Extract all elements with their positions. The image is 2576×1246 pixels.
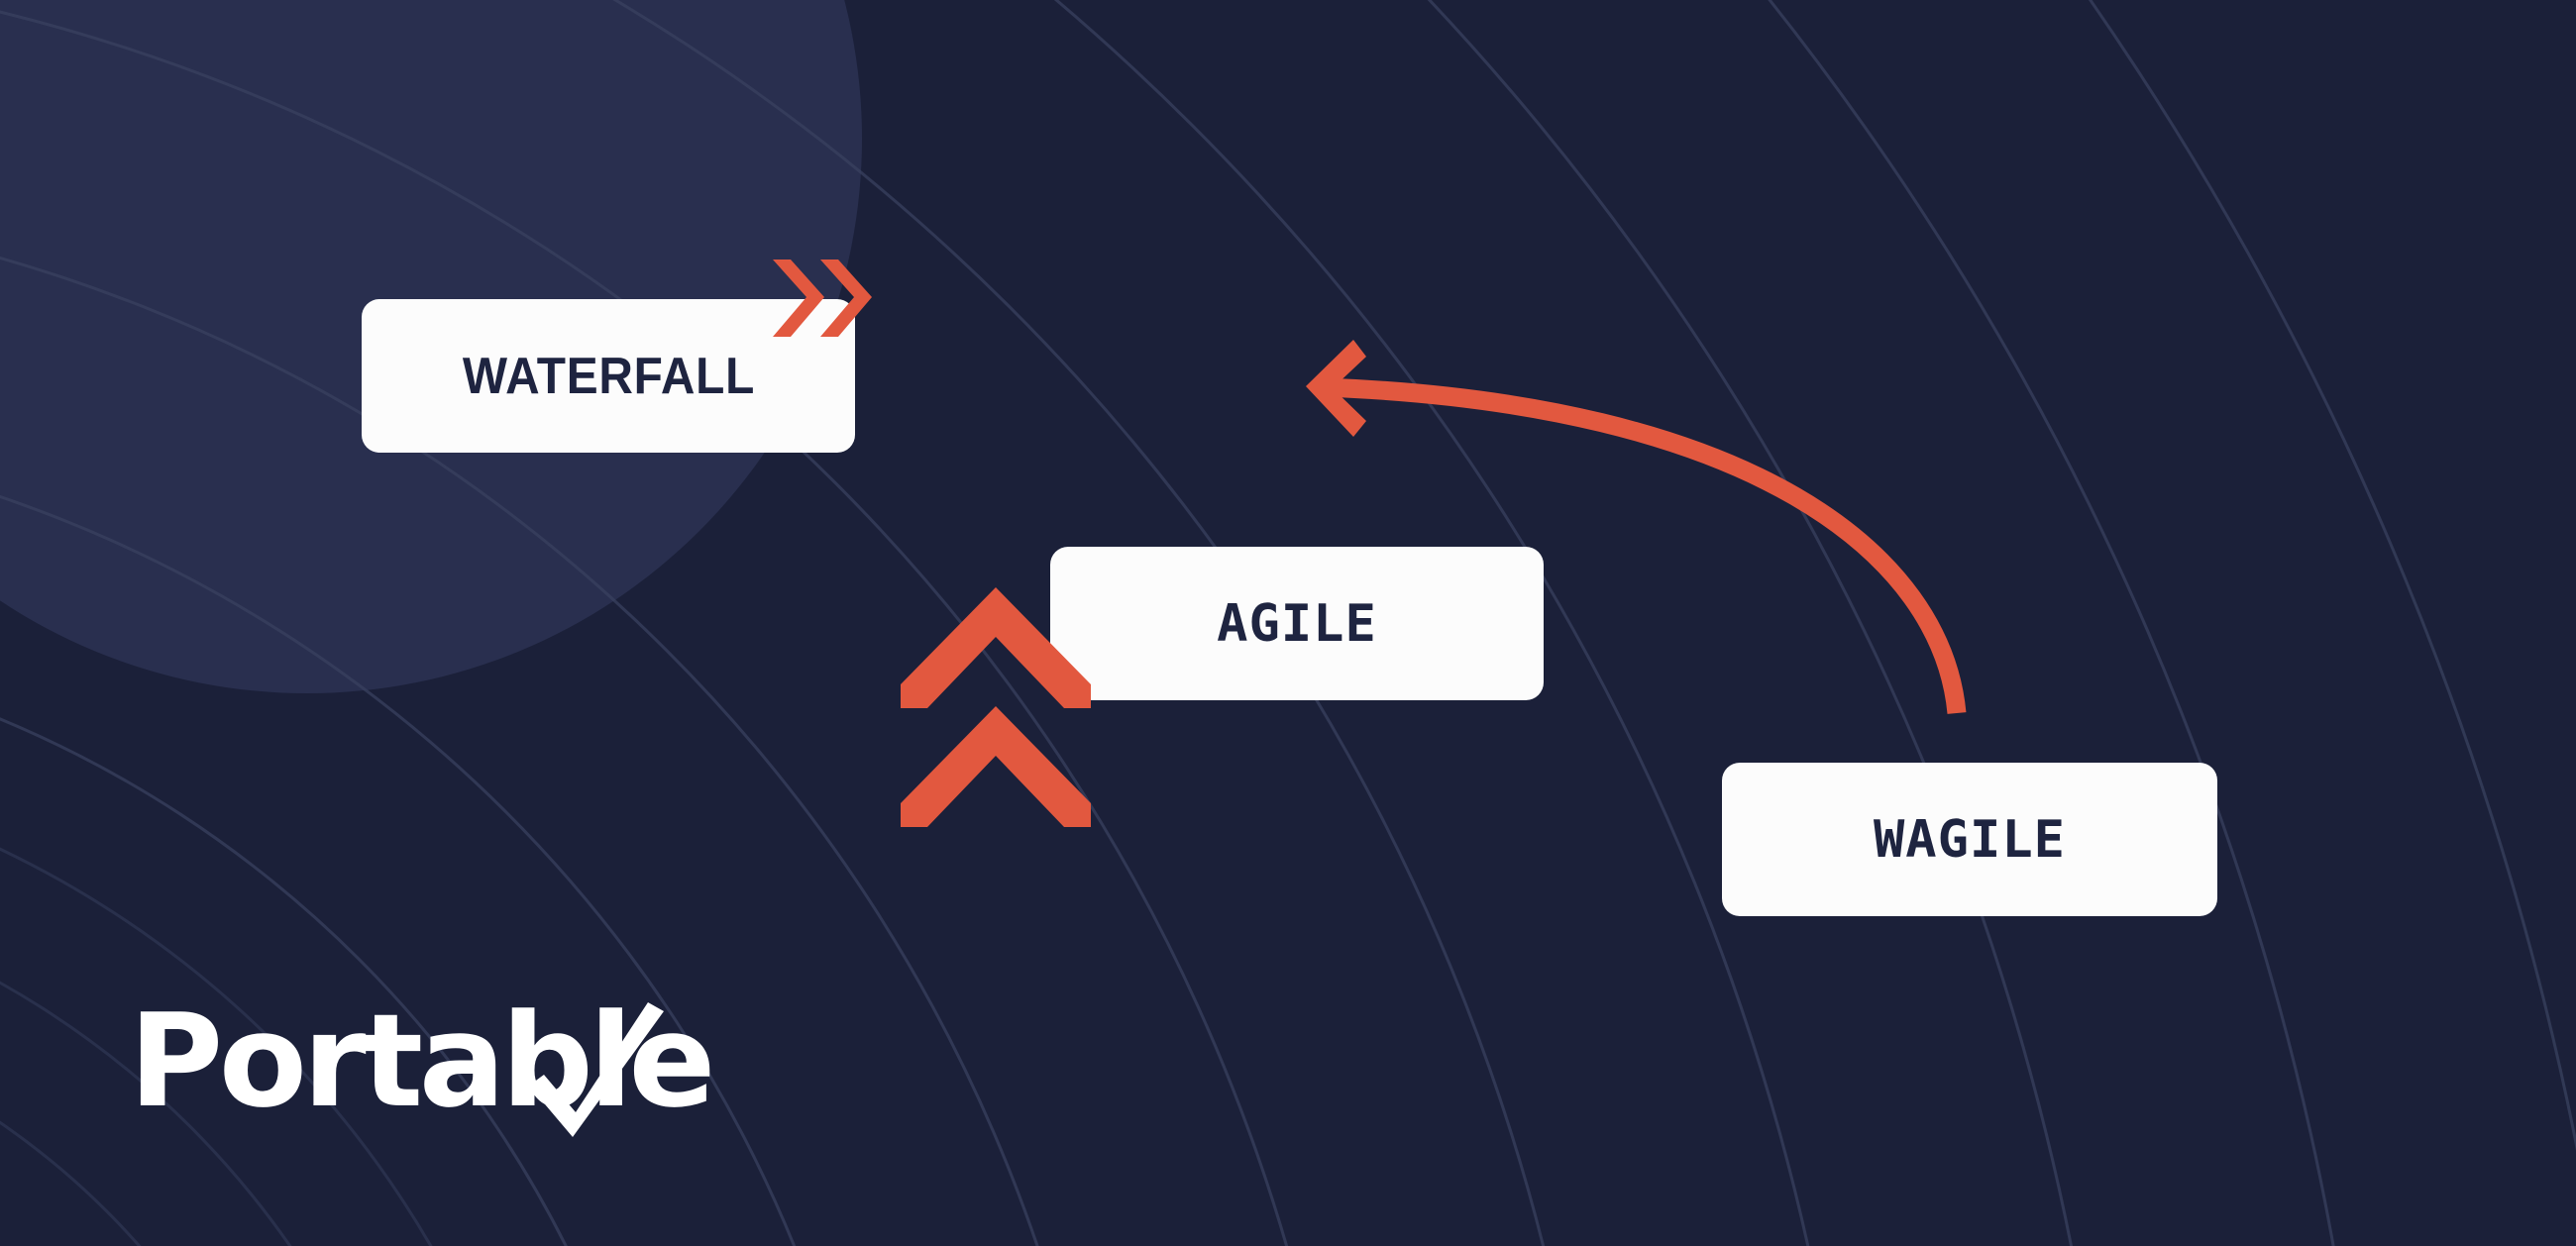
curved-arrow-left-icon bbox=[1288, 342, 2001, 748]
card-waterfall-label: WATERFALL bbox=[462, 351, 754, 402]
card-wagile-label: WAGILE bbox=[1874, 814, 2066, 866]
double-chevron-right-icon bbox=[763, 256, 892, 345]
card-wagile[interactable]: WAGILE bbox=[1722, 763, 2217, 916]
double-chevron-up-icon bbox=[897, 579, 1095, 832]
diagram-canvas: WATERFALL AGILE WAGILE Portable bbox=[0, 0, 2576, 1246]
portable-logo[interactable]: Portable bbox=[129, 990, 793, 1139]
curved-arrow-shaft bbox=[1323, 387, 1957, 713]
